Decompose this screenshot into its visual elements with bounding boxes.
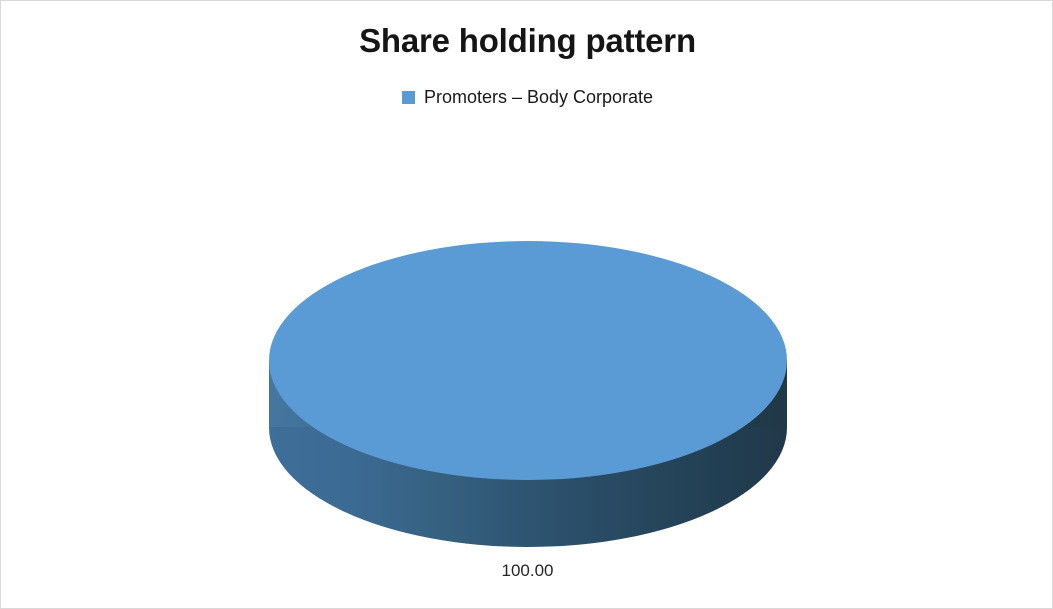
chart-container: Share holding pattern Promoters – Body C… xyxy=(0,0,1053,609)
pie-chart-3d xyxy=(269,241,787,547)
plot-area: 100.00 xyxy=(1,131,1053,601)
chart-legend: Promoters – Body Corporate xyxy=(1,85,1053,109)
pie-slice-promoters-body-corporate[interactable] xyxy=(269,241,787,480)
legend-item-promoters-body-corporate[interactable]: Promoters – Body Corporate xyxy=(402,85,653,109)
legend-swatch-icon xyxy=(402,91,415,104)
legend-item-label: Promoters – Body Corporate xyxy=(424,85,653,109)
pie-data-label: 100.00 xyxy=(1,560,1053,582)
chart-title: Share holding pattern xyxy=(1,19,1053,63)
